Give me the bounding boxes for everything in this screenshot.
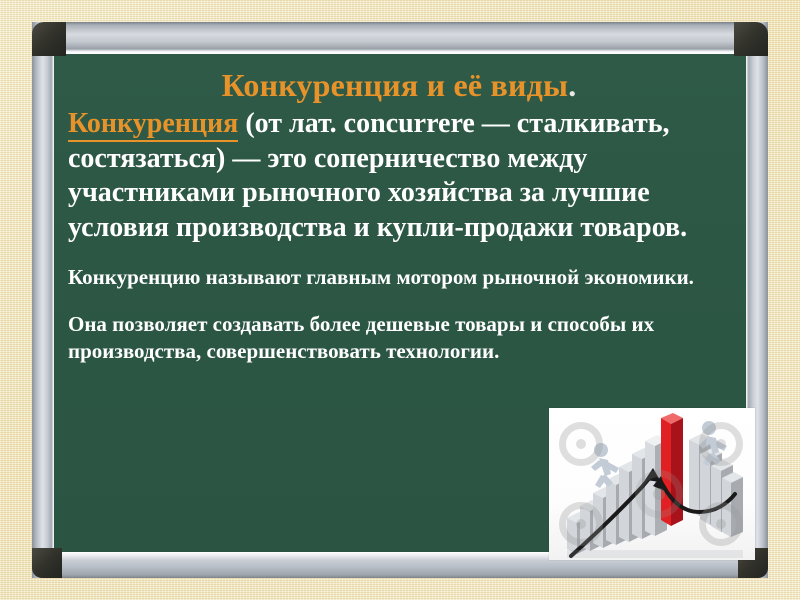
board-corner-bottom-left bbox=[32, 548, 62, 578]
board-frame-top bbox=[32, 22, 768, 54]
body-paragraph-1: Конкуренцию называют главным мотором рын… bbox=[68, 264, 730, 291]
body-paragraph-2: Она позволяет создавать более дешевые то… bbox=[68, 311, 730, 366]
bar-chart-photo bbox=[549, 408, 755, 560]
watermark-circle-icon bbox=[559, 422, 603, 466]
page-title-text: Конкуренция и её виды bbox=[222, 67, 569, 103]
watermark-circle-icon bbox=[635, 470, 683, 518]
watermark-circle-icon bbox=[559, 502, 603, 546]
page-title-period: . bbox=[568, 67, 576, 103]
board-frame-left bbox=[32, 22, 54, 578]
watermark-circle-icon bbox=[699, 422, 743, 466]
definition-term: Конкуренция bbox=[68, 108, 238, 142]
watermark-circle-icon bbox=[699, 502, 743, 546]
reflection bbox=[567, 550, 743, 558]
slide: Конкуренция и её виды. Конкуренция (от л… bbox=[0, 0, 800, 600]
page-title: Конкуренция и её виды. bbox=[68, 68, 730, 104]
definition-paragraph: Конкуренция (от лат. concurrere — сталки… bbox=[68, 107, 730, 246]
board-corner-top-right bbox=[734, 22, 768, 56]
board-corner-top-left bbox=[32, 22, 66, 56]
